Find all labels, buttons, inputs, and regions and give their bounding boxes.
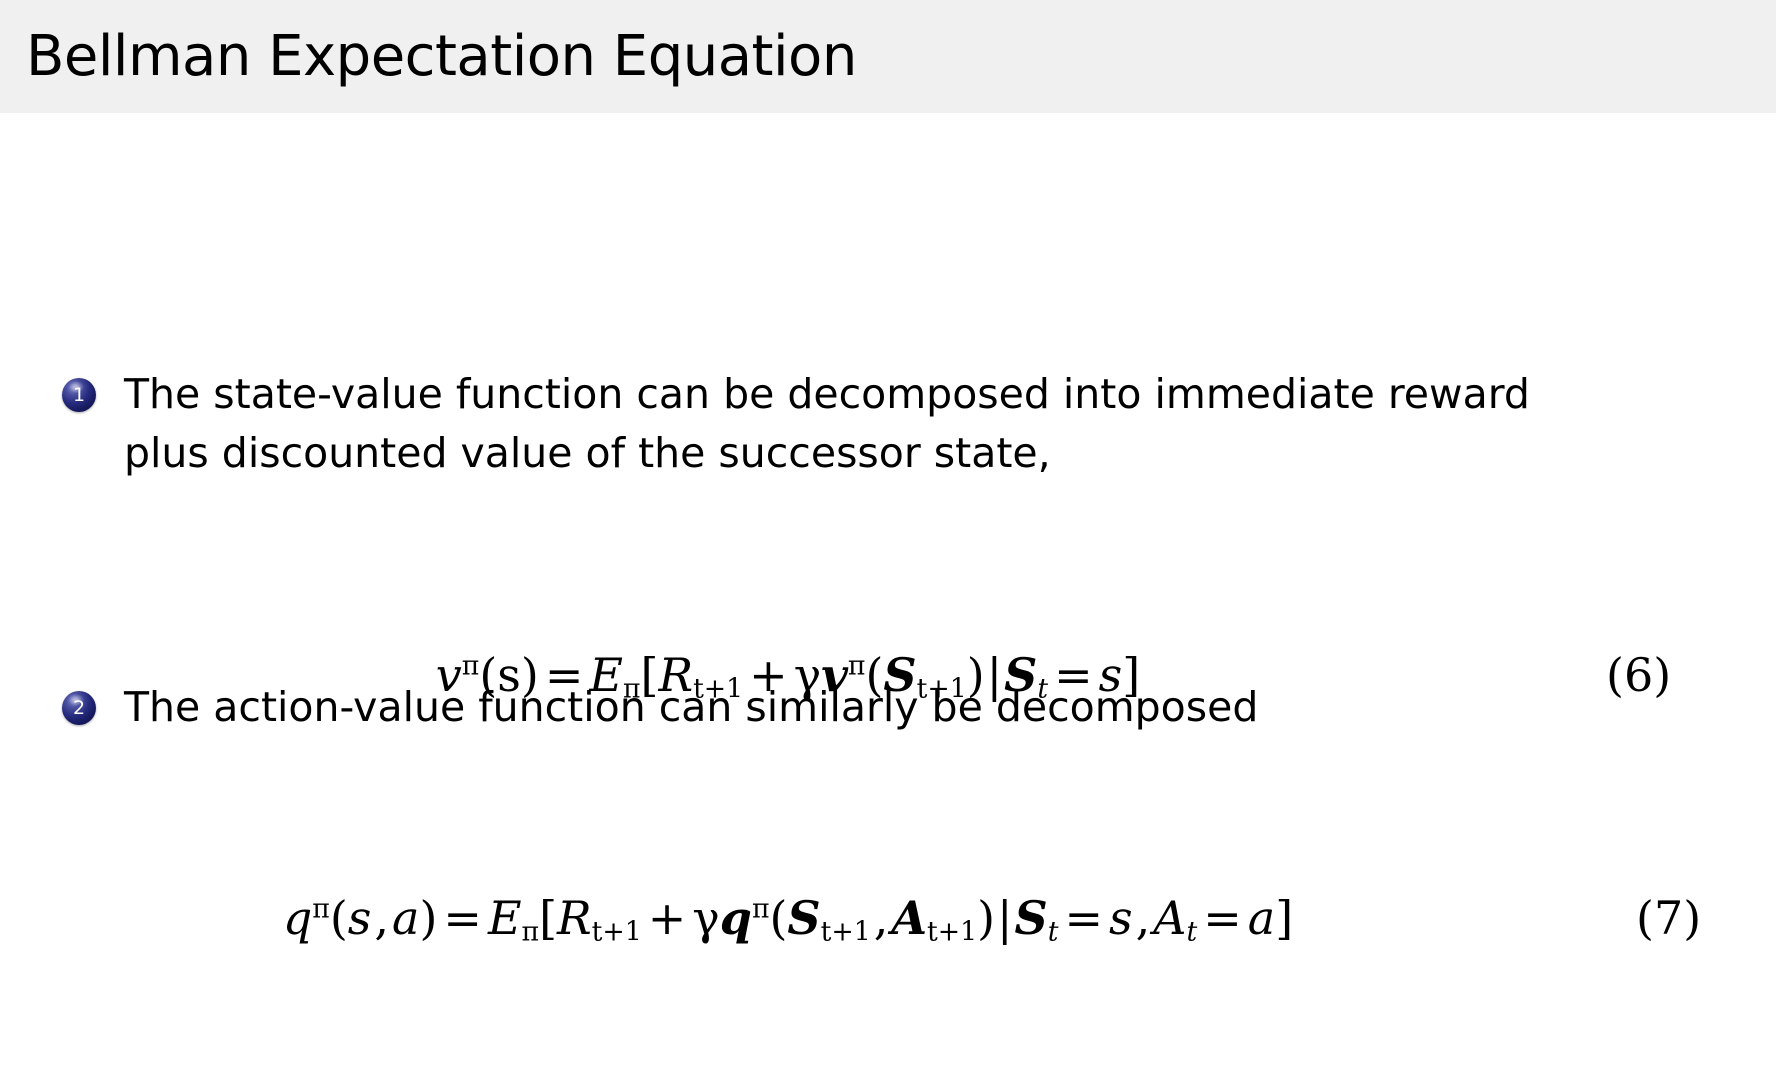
bullet-number-icon: 1 bbox=[62, 378, 96, 412]
eq7-cond-relation-2: = bbox=[1197, 891, 1248, 945]
eq7-lhs-arg2: a bbox=[392, 891, 419, 945]
eq7-next-arg-open: ( bbox=[769, 891, 787, 945]
equation-7-number: (7) bbox=[1636, 891, 1776, 945]
list-item-line-2: plus discounted value of the successor s… bbox=[124, 424, 1564, 483]
eq7-cond-comma: , bbox=[1133, 891, 1154, 945]
eq7-next-state: S bbox=[787, 891, 820, 945]
eq7-lhs-comma: , bbox=[371, 891, 392, 945]
eq7-discount-factor: γ bbox=[692, 891, 720, 945]
eq7-next-arg-close: ) bbox=[977, 891, 995, 945]
eq7-next-superscript: π bbox=[752, 894, 770, 925]
eq7-cond-action-subscript: t bbox=[1187, 917, 1198, 948]
eq7-lhs-function: q bbox=[283, 891, 312, 945]
eq7-open-bracket: [ bbox=[539, 891, 557, 945]
list-item: 1 The state-value function can be decomp… bbox=[0, 365, 1776, 484]
eq7-cond-value: s bbox=[1109, 891, 1133, 945]
eq7-next-comma: , bbox=[871, 891, 892, 945]
equation-7: qπ(s,a)=Eπ[Rt+1+γqπ(St+1,At+1)|St=s,At=a… bbox=[0, 891, 1776, 945]
eq7-reward-symbol: R bbox=[557, 891, 592, 945]
eq7-cond-action-value: a bbox=[1248, 891, 1275, 945]
slide-title-bar: Bellman Expectation Equation bbox=[0, 0, 1776, 113]
slide: Bellman Expectation Equation 1 The state… bbox=[0, 0, 1776, 1080]
eq7-cond-state: S bbox=[1015, 891, 1048, 945]
eq7-next-state-subscript: t+1 bbox=[821, 917, 871, 948]
eq7-close-bracket: ] bbox=[1275, 891, 1293, 945]
eq7-reward-subscript: t+1 bbox=[592, 917, 642, 948]
list-item-line-1: The state-value function can be decompos… bbox=[124, 365, 1564, 424]
eq7-next-function: q bbox=[720, 891, 752, 945]
slide-body: 1 The state-value function can be decomp… bbox=[0, 113, 1776, 1080]
eq7-plus: + bbox=[642, 891, 693, 945]
eq7-next-action-subscript: t+1 bbox=[927, 917, 977, 948]
list-item: 2 The action-value function can similarl… bbox=[0, 678, 1776, 737]
eq7-given-bar: | bbox=[995, 891, 1015, 945]
eq7-cond-state-subscript: t bbox=[1048, 917, 1059, 948]
list-item-text: The action-value function can similarly … bbox=[124, 678, 1564, 737]
eq7-expectation-subscript: π bbox=[522, 917, 540, 948]
eq7-next-action: A bbox=[891, 891, 927, 945]
bullet-number-icon: 2 bbox=[62, 691, 96, 725]
equation-7-expression: qπ(s,a)=Eπ[Rt+1+γqπ(St+1,At+1)|St=s,At=a… bbox=[0, 891, 1636, 945]
eq7-lhs-arg1: s bbox=[348, 891, 372, 945]
list-item-text: The state-value function can be decompos… bbox=[124, 365, 1564, 484]
eq7-cond-relation: = bbox=[1058, 891, 1109, 945]
page-title: Bellman Expectation Equation bbox=[26, 29, 857, 85]
bullet-number-label: 1 bbox=[73, 386, 85, 405]
eq7-lhs-superscript: π bbox=[312, 894, 330, 925]
eq7-relation: = bbox=[437, 891, 488, 945]
list-item-line-1: The action-value function can similarly … bbox=[124, 678, 1564, 737]
eq7-expectation-symbol: E bbox=[488, 891, 522, 945]
eq7-lhs-args-close: ) bbox=[419, 891, 437, 945]
eq7-lhs-args-open: ( bbox=[330, 891, 348, 945]
bullet-number-label: 2 bbox=[73, 699, 85, 718]
eq7-cond-action: A bbox=[1153, 891, 1186, 945]
